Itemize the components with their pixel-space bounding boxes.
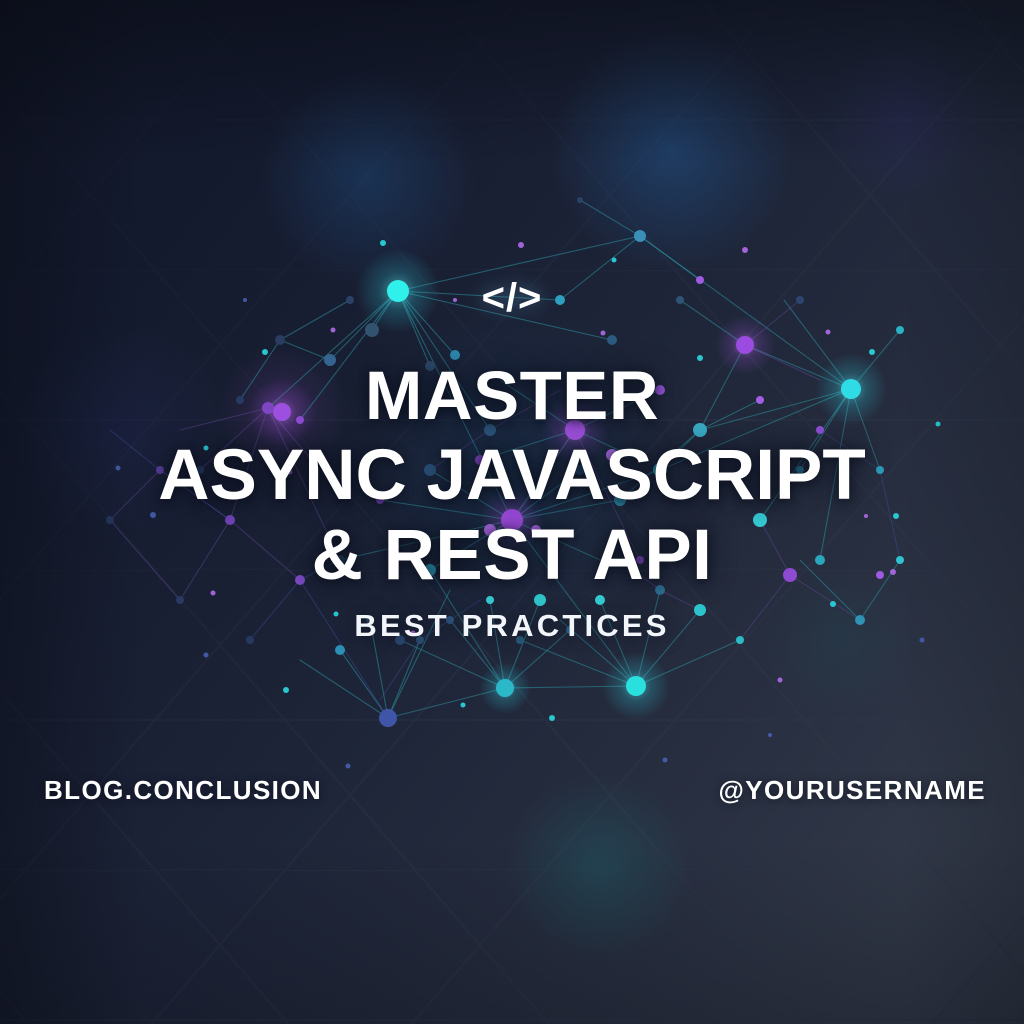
headline-line-1: MASTER (0, 356, 1024, 436)
code-brackets-icon: </> (0, 276, 1024, 321)
social-handle: @YOURUSERNAME (719, 775, 986, 806)
subtitle: BEST PRACTICES (0, 608, 1024, 644)
headline-line-2: ASYNC JAVASCRIPT (0, 436, 1024, 516)
headline-line-3: & REST API (0, 516, 1024, 596)
poster-canvas: </> MASTER ASYNC JAVASCRIPT & REST API B… (0, 0, 1024, 1024)
poster-content: </> MASTER ASYNC JAVASCRIPT & REST API B… (0, 0, 1024, 1024)
brand-handle: BLOG.CONCLUSION (44, 775, 322, 806)
page-title: MASTER ASYNC JAVASCRIPT & REST API (0, 356, 1024, 596)
